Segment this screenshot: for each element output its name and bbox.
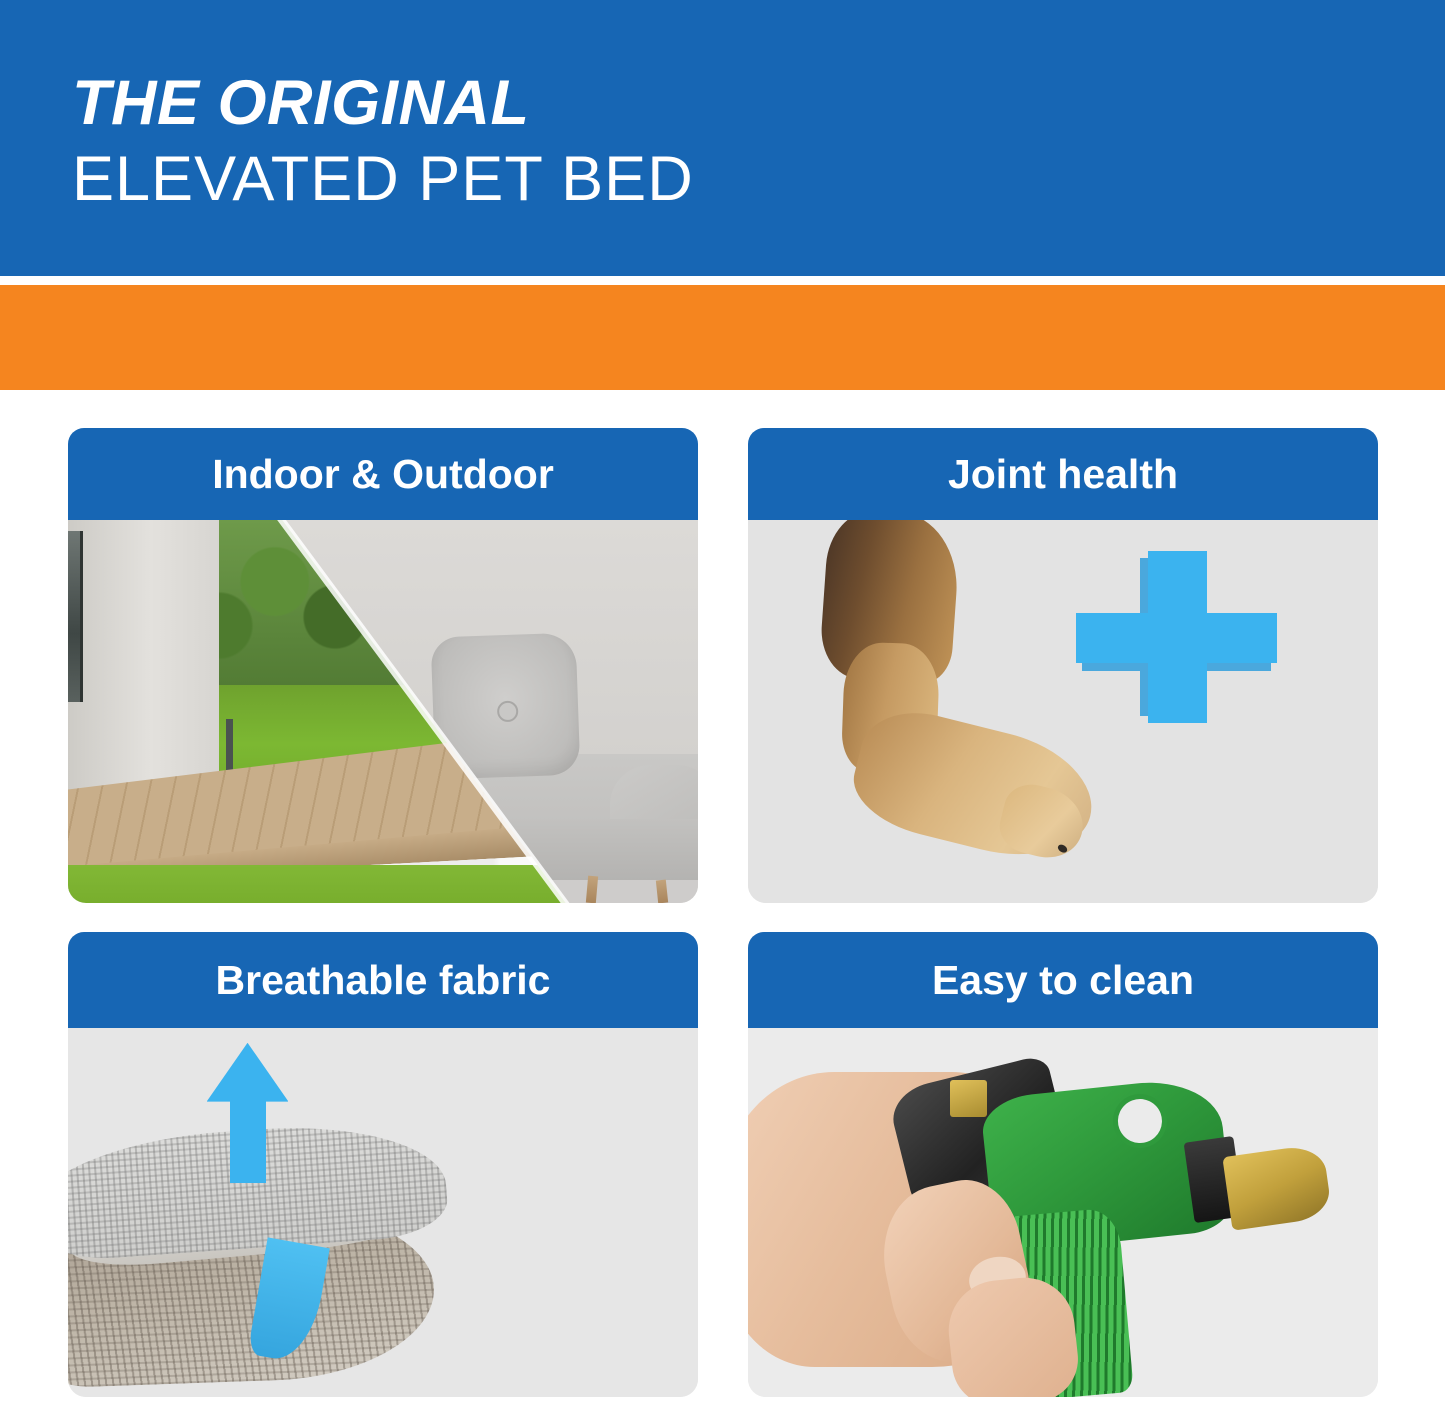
card-title-easy-to-clean: Easy to clean	[932, 960, 1194, 1001]
dog-paw	[844, 700, 1105, 873]
card-image-joint-health	[748, 520, 1378, 903]
header-banner-divider	[0, 276, 1445, 285]
split-photo-deck-and-sofa-icon	[68, 520, 698, 903]
hand-holding-hose-nozzle-icon	[748, 1028, 1378, 1397]
dog-paw-toes	[995, 778, 1091, 864]
card-image-breathable-fabric	[68, 1028, 698, 1397]
product-title-header: THE ORIGINAL ELEVATED PET BED	[0, 0, 1445, 276]
nozzle-adjuster-screw	[950, 1080, 988, 1117]
card-image-indoor-outdoor	[68, 520, 698, 903]
card-header-joint-health: Joint health	[748, 428, 1378, 520]
house-wall	[68, 520, 219, 796]
feature-card-joint-health[interactable]: Joint health	[748, 428, 1378, 903]
feature-card-indoor-outdoor[interactable]: Indoor & Outdoor	[68, 428, 698, 903]
feature-card-easy-to-clean[interactable]: Easy to clean	[748, 932, 1378, 1397]
card-header-easy-to-clean: Easy to clean	[748, 932, 1378, 1028]
card-title-indoor-outdoor: Indoor & Outdoor	[212, 454, 554, 495]
card-title-joint-health: Joint health	[948, 454, 1178, 495]
medical-cross-shape	[1076, 551, 1278, 723]
airflow-arrow-up-icon	[207, 1043, 289, 1183]
card-header-breathable-fabric: Breathable fabric	[68, 932, 698, 1028]
arrow-head	[207, 1043, 289, 1102]
features-banner: Features & Benefits	[0, 285, 1445, 390]
cross-bar-vertical	[1148, 551, 1206, 723]
arrow-shaft	[230, 1096, 266, 1183]
card-header-indoor-outdoor: Indoor & Outdoor	[68, 428, 698, 520]
product-title-line-2: ELEVATED PET BED	[72, 148, 694, 211]
product-title-line-1: THE ORIGINAL	[72, 72, 530, 135]
medical-cross-icon	[1076, 551, 1278, 723]
sofa-leg-left	[586, 876, 598, 903]
sofa-leg-right	[655, 880, 667, 903]
patio-door	[68, 531, 83, 702]
feature-card-breathable-fabric[interactable]: Breathable fabric	[68, 932, 698, 1397]
mesh-fabric-airflow-icon	[68, 1028, 698, 1397]
cushion-button	[498, 700, 520, 722]
dog-leg-with-medical-cross-icon	[748, 520, 1378, 903]
nozzle-brass-tip	[1222, 1143, 1332, 1230]
card-image-easy-to-clean	[748, 1028, 1378, 1397]
feature-card-grid: Indoor & Outdoor	[0, 390, 1445, 1411]
card-title-breathable-fabric: Breathable fabric	[216, 960, 551, 1001]
